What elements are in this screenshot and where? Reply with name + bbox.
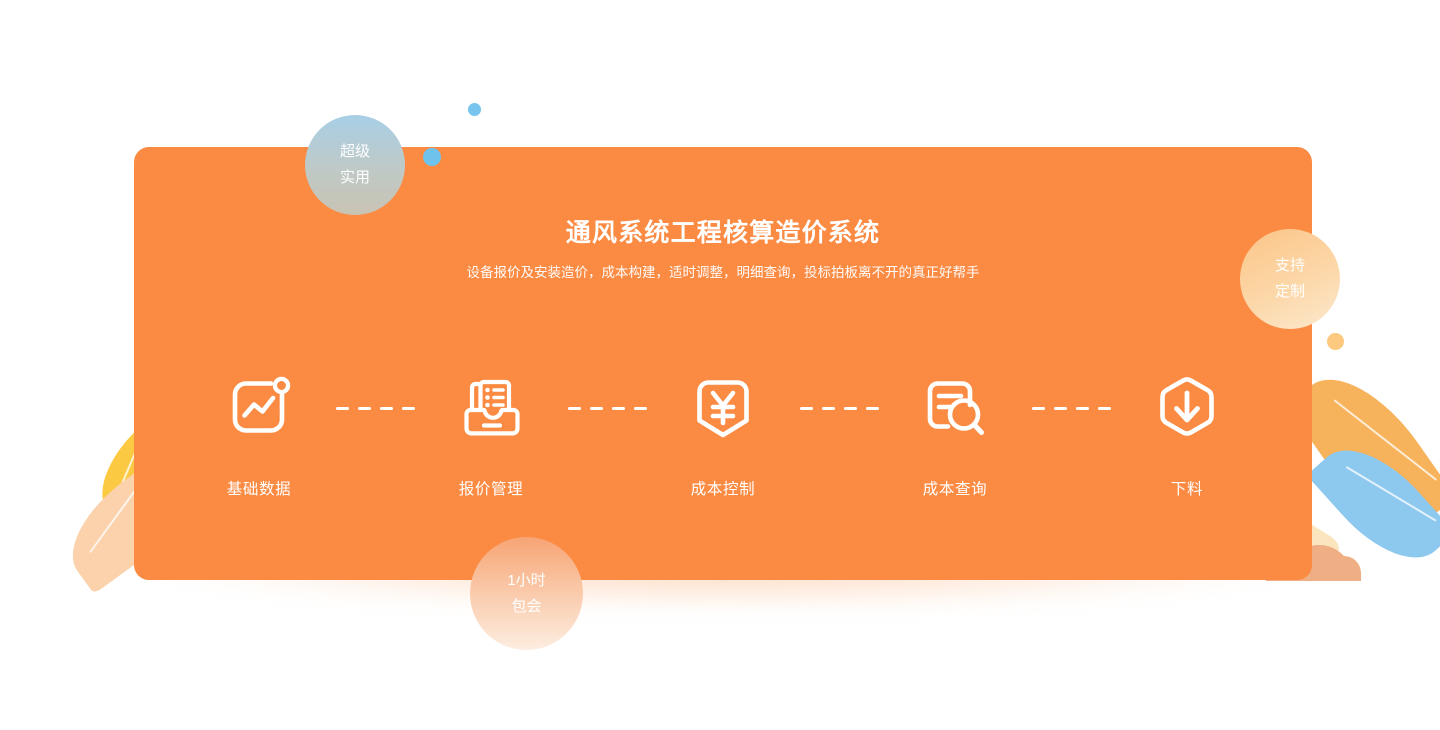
badge-super-practical: 超级 实用: [305, 115, 405, 215]
feature-item-basic-data[interactable]: 基础数据: [194, 365, 324, 499]
badge-line-2: 包会: [511, 594, 541, 620]
feature-item-quote-management[interactable]: 报价管理: [426, 365, 556, 499]
feature-label: 下料: [1171, 477, 1203, 499]
badge-line-1: 支持: [1275, 253, 1305, 279]
feature-label: 成本查询: [923, 477, 987, 499]
product-card: 通风系统工程核算造价系统 设备报价及安装造价，成本构建，适时调整，明细查询，投标…: [134, 147, 1312, 580]
feature-item-cost-control[interactable]: 成本控制: [658, 365, 788, 499]
feature-label: 报价管理: [459, 477, 523, 499]
feature-connector: [800, 407, 879, 410]
document-search-icon: [912, 365, 998, 451]
badge-line-1: 1小时: [507, 568, 545, 594]
inbox-document-icon: [448, 365, 534, 451]
badge-line-2: 实用: [340, 165, 370, 191]
feature-label: 成本控制: [691, 477, 755, 499]
page-title: 通风系统工程核算造价系统: [134, 213, 1312, 249]
yuan-banner-icon: [680, 365, 766, 451]
feature-connector: [336, 407, 415, 410]
feature-list: 基础数据: [194, 365, 1252, 499]
feature-label: 基础数据: [227, 477, 291, 499]
dot-orange: [1327, 333, 1344, 350]
feature-connector: [568, 407, 647, 410]
feature-connector: [1032, 407, 1111, 410]
feature-item-cost-query[interactable]: 成本查询: [890, 365, 1020, 499]
dot-blue-small: [468, 103, 481, 116]
badge-one-hour-training: 1小时 包会: [470, 537, 583, 650]
hexagon-download-icon: [1144, 365, 1230, 451]
badge-customization: 支持 定制: [1240, 229, 1340, 329]
chart-card-icon: [216, 365, 302, 451]
badge-line-2: 定制: [1275, 279, 1305, 305]
page-subtitle: 设备报价及安装造价，成本构建，适时调整，明细查询，投标拍板离不开的真正好帮手: [463, 261, 983, 285]
dot-blue-large: [423, 148, 441, 166]
feature-item-material-cutting[interactable]: 下料: [1122, 365, 1252, 499]
hero-banner: 通风系统工程核算造价系统 设备报价及安装造价，成本构建，适时调整，明细查询，投标…: [0, 0, 1440, 730]
badge-line-1: 超级: [340, 139, 370, 165]
